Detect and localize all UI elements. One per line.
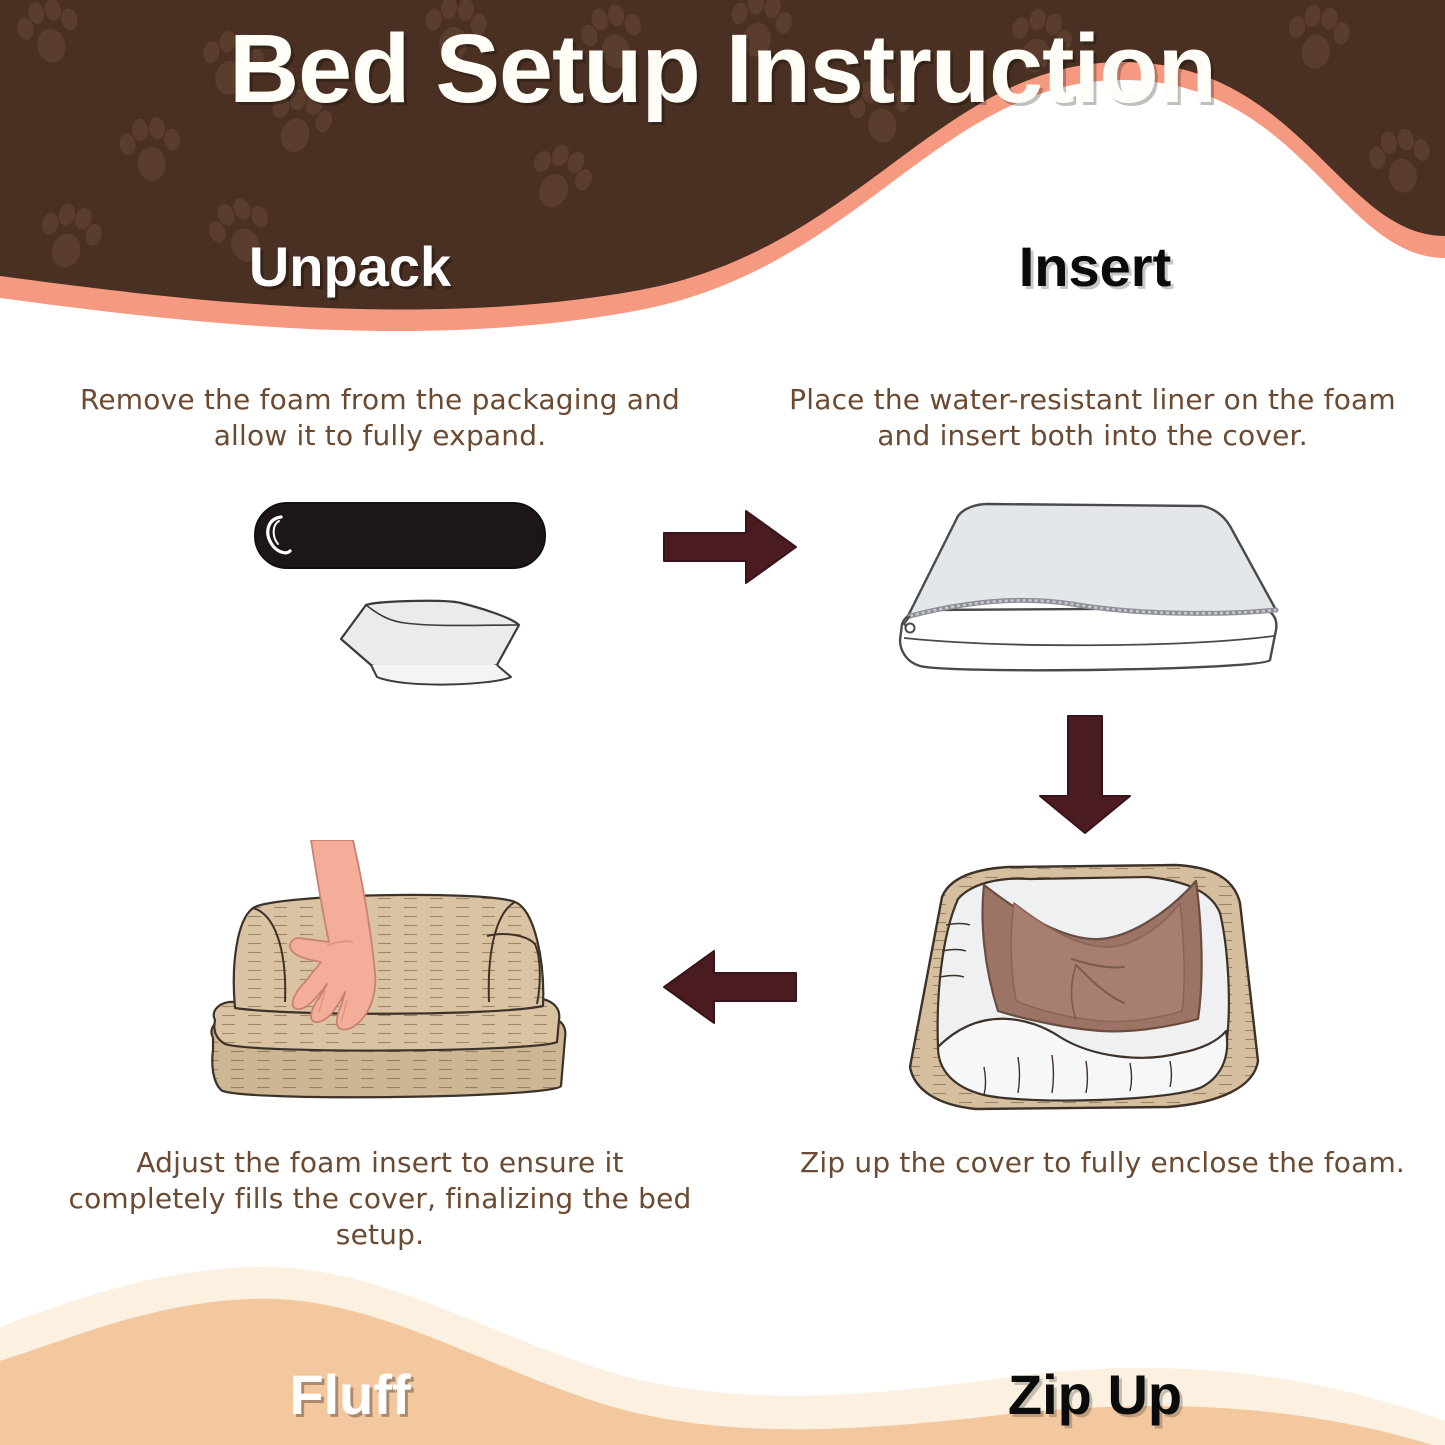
page-title: Bed Setup Instruction <box>0 18 1445 120</box>
step-label-fluff: Fluff <box>0 1362 700 1427</box>
cushion-base <box>900 608 1276 670</box>
figure-hand-pressing-bed <box>195 840 605 1125</box>
caption-unpack: Remove the foam from the packaging and a… <box>55 382 705 454</box>
figure-zippered-cushion <box>880 490 1300 690</box>
folded-liner-icon <box>341 601 519 685</box>
step-label-zipup: Zip Up <box>745 1362 1445 1427</box>
bed-bolster-back <box>234 895 543 1014</box>
arrow-left-icon <box>660 945 800 1030</box>
cushion-top <box>908 504 1276 616</box>
caption-fluff: Adjust the foam insert to ensure it comp… <box>55 1145 705 1252</box>
arrow-down-icon <box>1030 712 1140 837</box>
step-label-unpack: Unpack <box>0 234 700 299</box>
rolled-foam-icon <box>255 503 545 568</box>
step-label-insert: Insert <box>745 234 1445 299</box>
arrow-right-icon <box>660 505 800 590</box>
figure-open-cover-with-liner <box>880 855 1285 1120</box>
caption-insert: Place the water-resistant liner on the f… <box>775 382 1410 454</box>
caption-zipup: Zip up the cover to fully enclose the fo… <box>785 1145 1420 1181</box>
figure-rolled-foam-and-liner <box>245 495 605 720</box>
bed-setup-instruction-poster: Bed Setup Instruction Unpack Insert Remo… <box>0 0 1445 1445</box>
